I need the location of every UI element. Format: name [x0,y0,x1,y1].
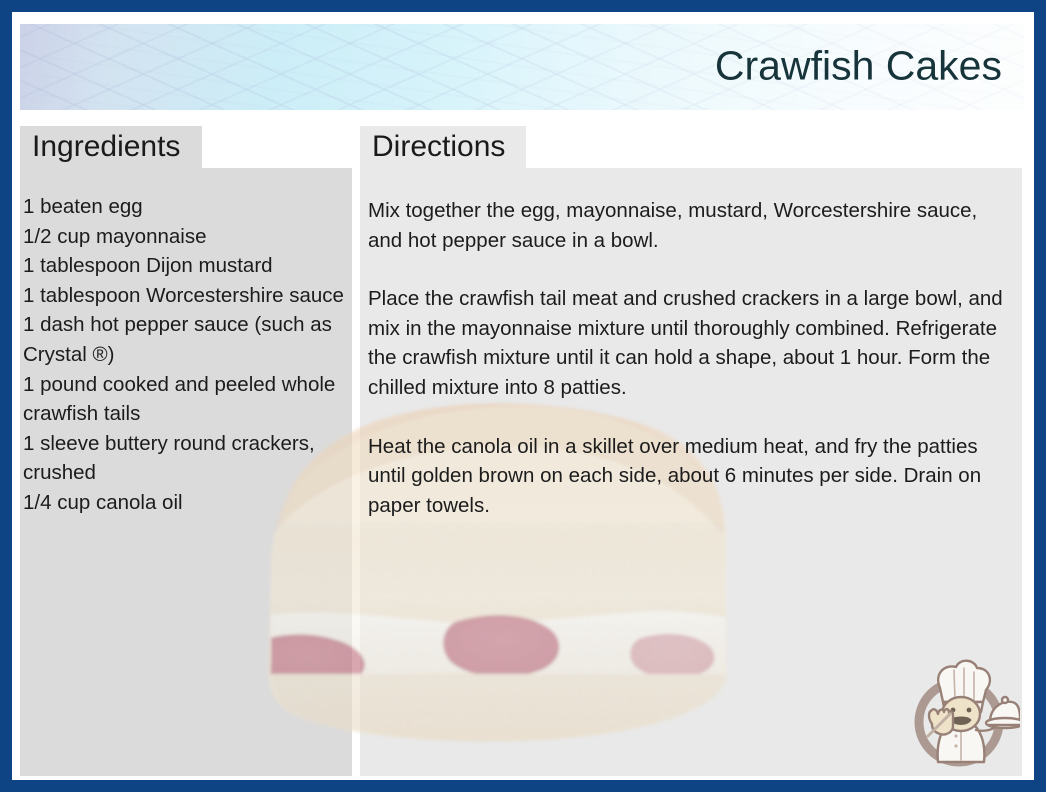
direction-step: Place the crawfish tail meat and crushed… [368,284,1016,402]
ingredients-list: 1 beaten egg 1/2 cup mayonnaise 1 tables… [23,192,353,518]
page-title: Crawfish Cakes [715,43,1002,90]
ingredients-heading: Ingredients [20,126,202,168]
directions-heading: Directions [360,126,526,168]
direction-step: Mix together the egg, mayonnaise, mustar… [368,196,1016,255]
chef-logo-icon [898,650,1020,772]
direction-step: Heat the canola oil in a skillet over me… [368,432,1016,521]
header-banner: Crawfish Cakes [20,24,1024,110]
directions-list: Mix together the egg, mayonnaise, mustar… [368,196,1016,549]
recipe-card: Crawfish Cakes Ingredients Directions [0,0,1046,792]
